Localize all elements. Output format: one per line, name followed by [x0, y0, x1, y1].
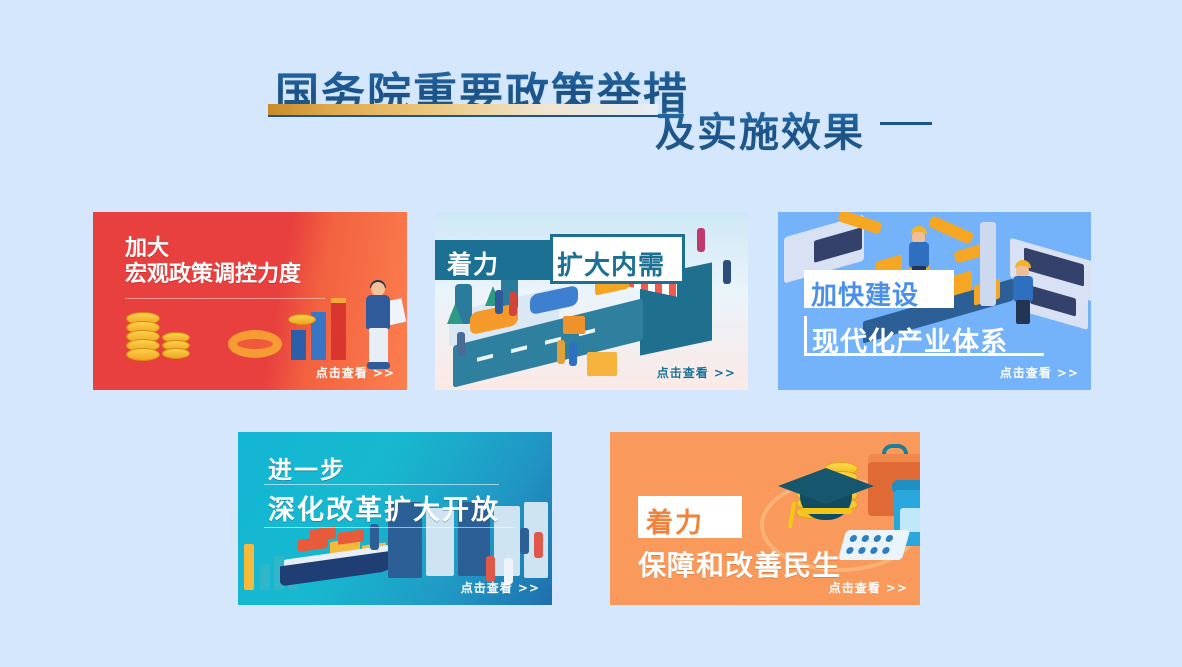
pedestrian-figure-2: [509, 292, 517, 316]
card-1-title-line1: 加大: [125, 236, 301, 262]
robot-arm-2: [928, 215, 975, 245]
bar-chart-icon: [291, 298, 355, 360]
page-root: 国务院重要政策举措 国务院重要政策举措 及实施效果 加大 宏观政策调控力度: [0, 0, 1182, 667]
card-4-title-line1: 进一步: [268, 450, 346, 485]
card-4-title-line2: 深化改革扩大开放: [268, 488, 500, 527]
pedestrian-figure-6: [697, 228, 705, 252]
pedestrian-figure-7: [723, 260, 731, 284]
package-box-shape-2: [587, 352, 617, 376]
container-ship-figure: [280, 532, 400, 580]
card-3-title-line2: 现代化产业体系: [812, 320, 1008, 359]
visitor-figure-1: [520, 528, 529, 554]
card-4-title-rule-2: [264, 527, 514, 528]
policy-card-jiada[interactable]: 加大 宏观政策调控力度 点击查看 >>: [93, 212, 407, 390]
policy-card-chanyetixi[interactable]: 加快建设 现代化产业体系 点击查看 >>: [778, 212, 1091, 390]
page-title-line2: 及实施效果: [655, 100, 865, 158]
graduation-cap-icon: [778, 468, 874, 512]
page-header: 国务院重要政策举措 国务院重要政策举措 及实施效果: [0, 0, 1182, 180]
card-2-title-line1: 着力: [447, 245, 499, 281]
policy-card-kuodaneixu[interactable]: 着力 扩大内需 点击查看 >>: [435, 212, 748, 390]
policy-card-minsheng[interactable]: 着力 保障和改善民生 点击查看 >>: [610, 432, 920, 605]
robot-pillar: [980, 222, 996, 306]
title-underline: [268, 115, 660, 117]
card-2-title-line2: 扩大内需: [557, 245, 665, 282]
title-dash-rule: [880, 122, 932, 125]
package-box-shape: [563, 316, 585, 334]
card-1-title: 加大 宏观政策调控力度: [125, 236, 301, 287]
card-1-view-link[interactable]: 点击查看 >>: [316, 364, 395, 381]
title-gold-bar: [268, 104, 658, 115]
factory-worker-2: [1010, 260, 1036, 324]
card-4-view-link[interactable]: 点击查看 >>: [461, 579, 540, 596]
card-5-view-link[interactable]: 点击查看 >>: [829, 579, 908, 596]
pedestrian-figure-3: [457, 332, 465, 356]
card-1-title-line2: 宏观政策调控力度: [125, 262, 301, 288]
card-5-title-line1: 着力: [646, 501, 704, 540]
medicine-jar-label: [900, 508, 920, 532]
pedestrian-figure-4: [557, 340, 565, 364]
pedestrian-figure-5: [569, 342, 577, 366]
businessperson-figure: [359, 282, 399, 372]
donut-ring-icon: [228, 330, 282, 358]
card-3-title-line1: 加快建设: [811, 275, 919, 312]
card-5-title-line2: 保障和改善民生: [638, 544, 841, 584]
card-3-view-link[interactable]: 点击查看 >>: [1000, 364, 1079, 381]
visitor-figure-2: [534, 532, 543, 558]
pedestrian-figure-1: [495, 290, 503, 314]
visitor-figure-3: [464, 550, 473, 576]
tree-icon: [447, 304, 463, 324]
pill-blister-icon: [838, 530, 911, 560]
card-2-view-link[interactable]: 点击查看 >>: [657, 364, 736, 381]
policy-card-gaigekaifang[interactable]: 进一步 深化改革扩大开放 点击查看 >>: [238, 432, 552, 605]
